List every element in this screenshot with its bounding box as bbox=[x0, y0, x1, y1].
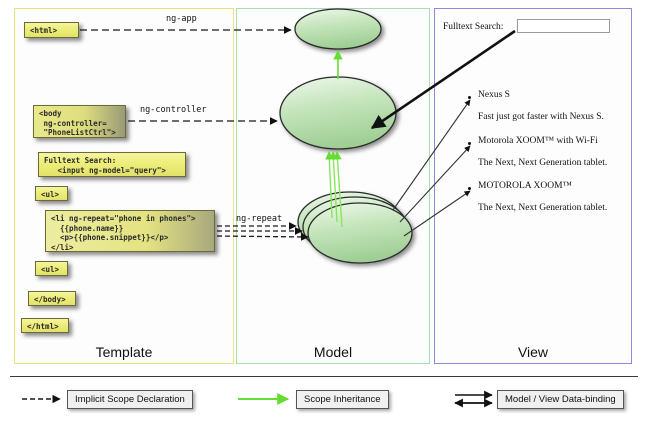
panel-label-template: Template bbox=[14, 344, 234, 360]
view-search-input[interactable] bbox=[517, 19, 610, 33]
legend-item-model-view-data-binding: Model / View Data-binding bbox=[497, 390, 624, 409]
view-list-bullet bbox=[468, 142, 471, 145]
view-list-item-snippet: Fast just got faster with Nexus S. bbox=[478, 112, 604, 122]
legend-item-scope-inheritance: Scope Inheritance bbox=[296, 390, 389, 409]
code-box-ul-open: <ul> bbox=[35, 186, 68, 201]
code-box-fulltext-search: Fulltext Search: <input ng-model="query"… bbox=[38, 152, 186, 177]
view-list-bullet bbox=[468, 187, 471, 190]
code-box-html-close: </html> bbox=[21, 318, 69, 333]
panel-label-view: View bbox=[434, 344, 632, 360]
legend-divider bbox=[10, 376, 638, 377]
edge-label-ng-controller: ng-controller bbox=[140, 105, 207, 115]
panel-label-model: Model bbox=[236, 344, 430, 360]
view-list-item-snippet: The Next, Next Generation tablet. bbox=[478, 203, 607, 213]
view-list-bullet bbox=[468, 96, 471, 99]
edge-label-ng-app: ng-app bbox=[166, 14, 197, 24]
code-box-li-ng-repeat: <li ng-repeat="phone in phones"> {{phone… bbox=[45, 210, 215, 252]
panel-model bbox=[236, 8, 430, 364]
code-box-body-close: </body> bbox=[28, 291, 76, 306]
edge-label-ng-repeat: ng-repeat bbox=[236, 214, 282, 224]
code-box-html-open: <html> bbox=[24, 22, 79, 38]
legend-item-implicit-scope-declaration: Implicit Scope Declaration bbox=[67, 390, 193, 409]
view-search-label: Fulltext Search: bbox=[443, 22, 503, 32]
view-list-item-name: MOTOROLA XOOM™ bbox=[478, 181, 572, 191]
view-list-item-snippet: The Next, Next Generation tablet. bbox=[478, 158, 607, 168]
diagram-canvas: <html> <body ng-controller= "PhoneListCt… bbox=[0, 0, 645, 425]
view-list-item-name: Motorola XOOM™ with Wi-Fi bbox=[478, 136, 598, 146]
code-box-ul-close: <ul> bbox=[35, 261, 68, 276]
view-list-item-name: Nexus S bbox=[478, 90, 510, 100]
code-box-body-open: <body ng-controller= "PhoneListCtrl"> bbox=[33, 105, 126, 138]
